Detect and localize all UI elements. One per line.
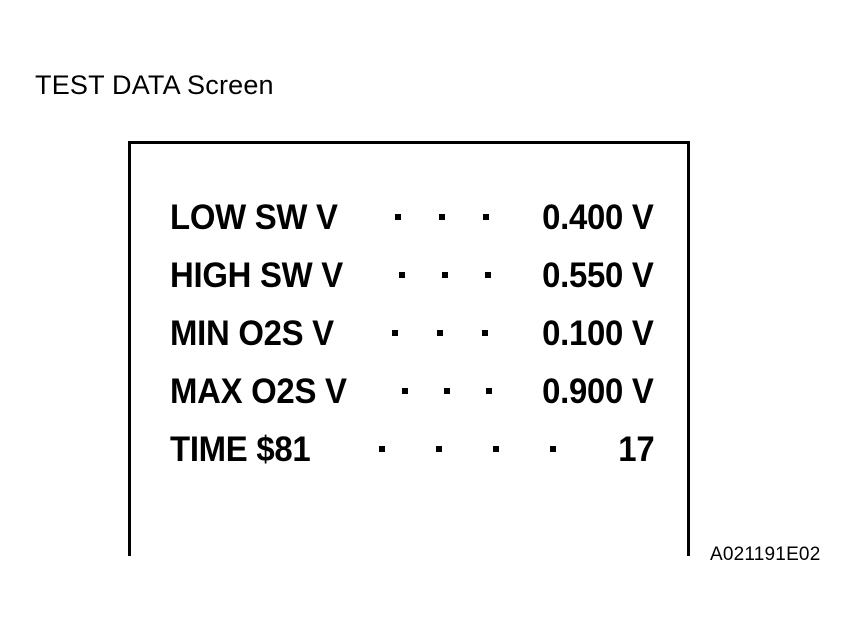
leader-dot [442,272,448,278]
leader-dot [444,388,450,394]
leader-dot [485,272,491,278]
row-value: 0.550 V [543,258,654,293]
table-row: MIN O2S V 0.100 V [170,304,654,362]
leader-dot [437,330,443,336]
figure-reference-code: A021191E02 [710,545,820,564]
page-title: TEST DATA Screen [35,72,274,99]
leader-dot [486,388,492,394]
leader-dots [319,420,615,478]
leader-dot [402,388,408,394]
row-value: 0.900 V [543,374,654,409]
leader-dots [344,304,535,362]
row-label: MAX O2S V [170,374,347,409]
row-label: MIN O2S V [170,316,334,351]
table-row: TIME $81 17 [170,420,654,478]
leader-dots [358,362,536,420]
leader-dot [493,446,499,452]
leader-dots [348,188,535,246]
leader-dot [399,272,405,278]
row-value: 0.400 V [543,200,654,235]
test-data-display-box: LOW SW V 0.400 V HIGH SW V 0.550 V MIN O… [128,141,690,556]
leader-dot [483,214,489,220]
test-data-row-list: LOW SW V 0.400 V HIGH SW V 0.550 V MIN O… [170,188,654,478]
table-row: LOW SW V 0.400 V [170,188,654,246]
row-label: TIME $81 [170,432,310,467]
table-row: HIGH SW V 0.550 V [170,246,654,304]
leader-dot [395,214,401,220]
leader-dot [482,330,488,336]
row-value: 0.100 V [543,316,654,351]
leader-dot [550,446,556,452]
leader-dot [392,330,398,336]
leader-dot [379,446,385,452]
row-value: 17 [618,432,654,467]
row-label: HIGH SW V [170,258,343,293]
table-row: MAX O2S V 0.900 V [170,362,654,420]
leader-dot [436,446,442,452]
leader-dot [439,214,445,220]
leader-dots [354,246,535,304]
row-label: LOW SW V [170,200,338,235]
